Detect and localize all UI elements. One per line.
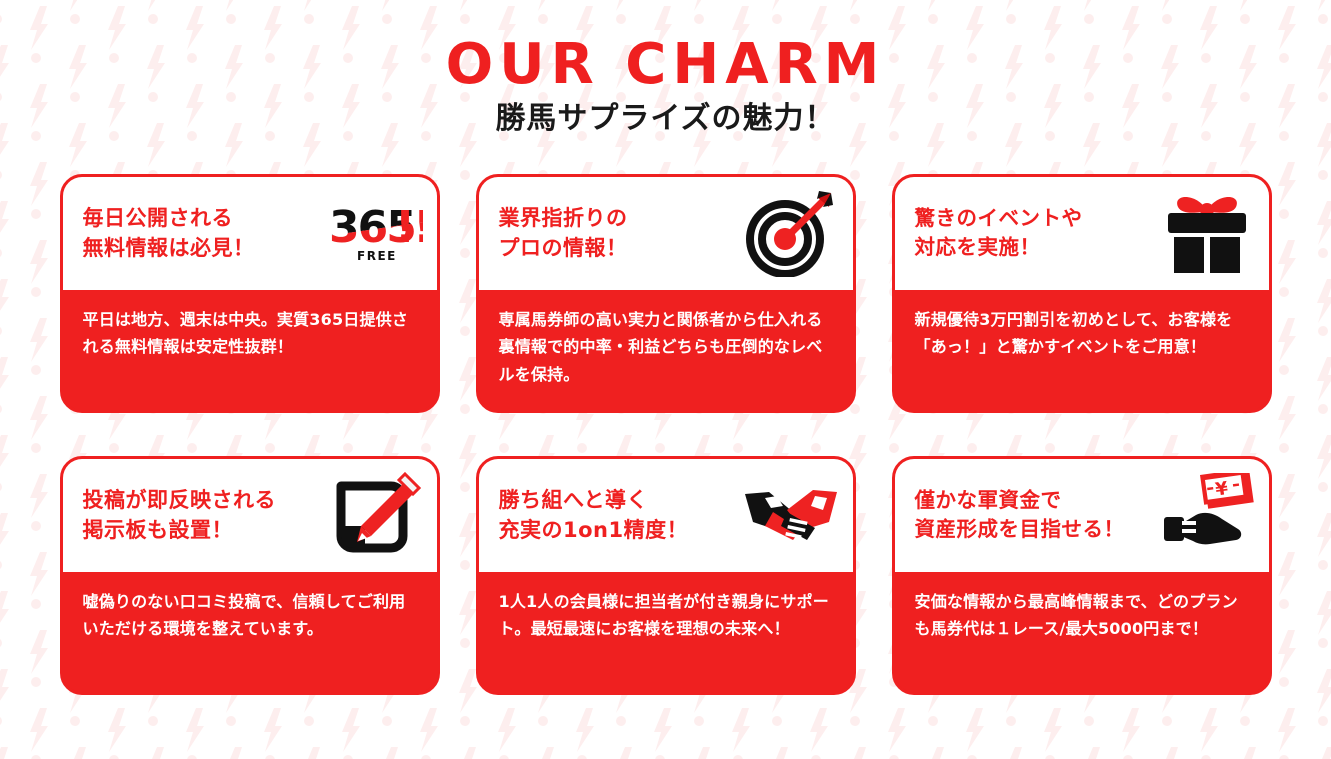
svg-text:FREE: FREE: [357, 249, 397, 263]
card-header: 僅かな軍資金で 資産形成を目指せる！ ¥: [895, 459, 1269, 572]
card-header: 業界指折りの プロの情報！: [479, 177, 853, 290]
card-header: 投稿が即反映される 掲示板も設置！: [63, 459, 437, 572]
section-heading: OUR CHARM 勝馬サプライズの魅力！: [0, 0, 1331, 137]
card-header: 勝ち組へと導く 充実の1on1精度！: [479, 459, 853, 572]
page-title-japanese: 勝馬サプライズの魅力！: [0, 101, 1331, 137]
handshake-icon: [743, 470, 839, 560]
card-title: 驚きのイベントや 対応を実施！: [915, 204, 1153, 263]
charm-card-events[interactable]: 驚きのイベントや 対応を実施！ 新規優待3万円割引を初めとして、お客様を「あっ！…: [892, 174, 1272, 413]
charm-card-grid: 毎日公開される 無料情報は必見！ 365 !! 365 !: [60, 174, 1272, 695]
hand-holding-yen-cash-icon: ¥: [1159, 470, 1255, 560]
card-body-text: 専属馬券師の高い実力と関係者から仕入れる裏情報で的中率・利益どちらも圧倒的なレベ…: [479, 290, 853, 410]
card-title: 勝ち組へと導く 充実の1on1精度！: [499, 485, 737, 546]
target-bullseye-arrow-icon: [743, 188, 839, 278]
charm-card-bulletin-board[interactable]: 投稿が即反映される 掲示板も設置！ 嘘偽りのない口コミ投稿で、信頼してご利用いた…: [60, 456, 440, 695]
gift-box-icon: [1159, 188, 1255, 278]
charm-card-pro-info[interactable]: 業界指折りの プロの情報！ 専属馬券師の高い実力と関係者から仕入れる裏情報で的中…: [476, 174, 856, 413]
card-title: 毎日公開される 無料情報は必見！: [83, 203, 321, 264]
card-body-text: 平日は地方、週末は中央。実質365日提供される無料情報は安定性抜群！: [63, 290, 437, 410]
card-title: 僅かな軍資金で 資産形成を目指せる！: [915, 486, 1153, 545]
page-title-english: OUR CHARM: [0, 36, 1331, 95]
card-title: 投稿が即反映される 掲示板も設置！: [83, 485, 321, 546]
our-charm-section: OUR CHARM 勝馬サプライズの魅力！ 毎日公開される 無料情報は必見！ 3…: [0, 0, 1331, 759]
charm-card-low-capital[interactable]: 僅かな軍資金で 資産形成を目指せる！ ¥: [892, 456, 1272, 695]
card-header: 毎日公開される 無料情報は必見！ 365 !! 365 !: [63, 177, 437, 290]
365-free-logo-icon: 365 !! 365 !! FREE: [327, 188, 423, 278]
card-title: 業界指折りの プロの情報！: [499, 203, 737, 264]
card-body-text: 安価な情報から最高峰情報まで、どのプランも馬券代は１レース/最大5000円まで！: [895, 572, 1269, 692]
charm-card-1on1-support[interactable]: 勝ち組へと導く 充実の1on1精度！ 1人1人の会員様に担当: [476, 456, 856, 695]
card-body-text: 嘘偽りのない口コミ投稿で、信頼してご利用いただける環境を整えています。: [63, 572, 437, 692]
card-body-text: 新規優待3万円割引を初めとして、お客様を「あっ！」と驚かすイベントをご用意！: [895, 290, 1269, 410]
charm-card-daily-free-info[interactable]: 毎日公開される 無料情報は必見！ 365 !! 365 !: [60, 174, 440, 413]
card-header: 驚きのイベントや 対応を実施！: [895, 177, 1269, 290]
notepad-pencil-icon: [327, 470, 423, 560]
card-body-text: 1人1人の会員様に担当者が付き親身にサポート。最短最速にお客様を理想の未来へ！: [479, 572, 853, 692]
